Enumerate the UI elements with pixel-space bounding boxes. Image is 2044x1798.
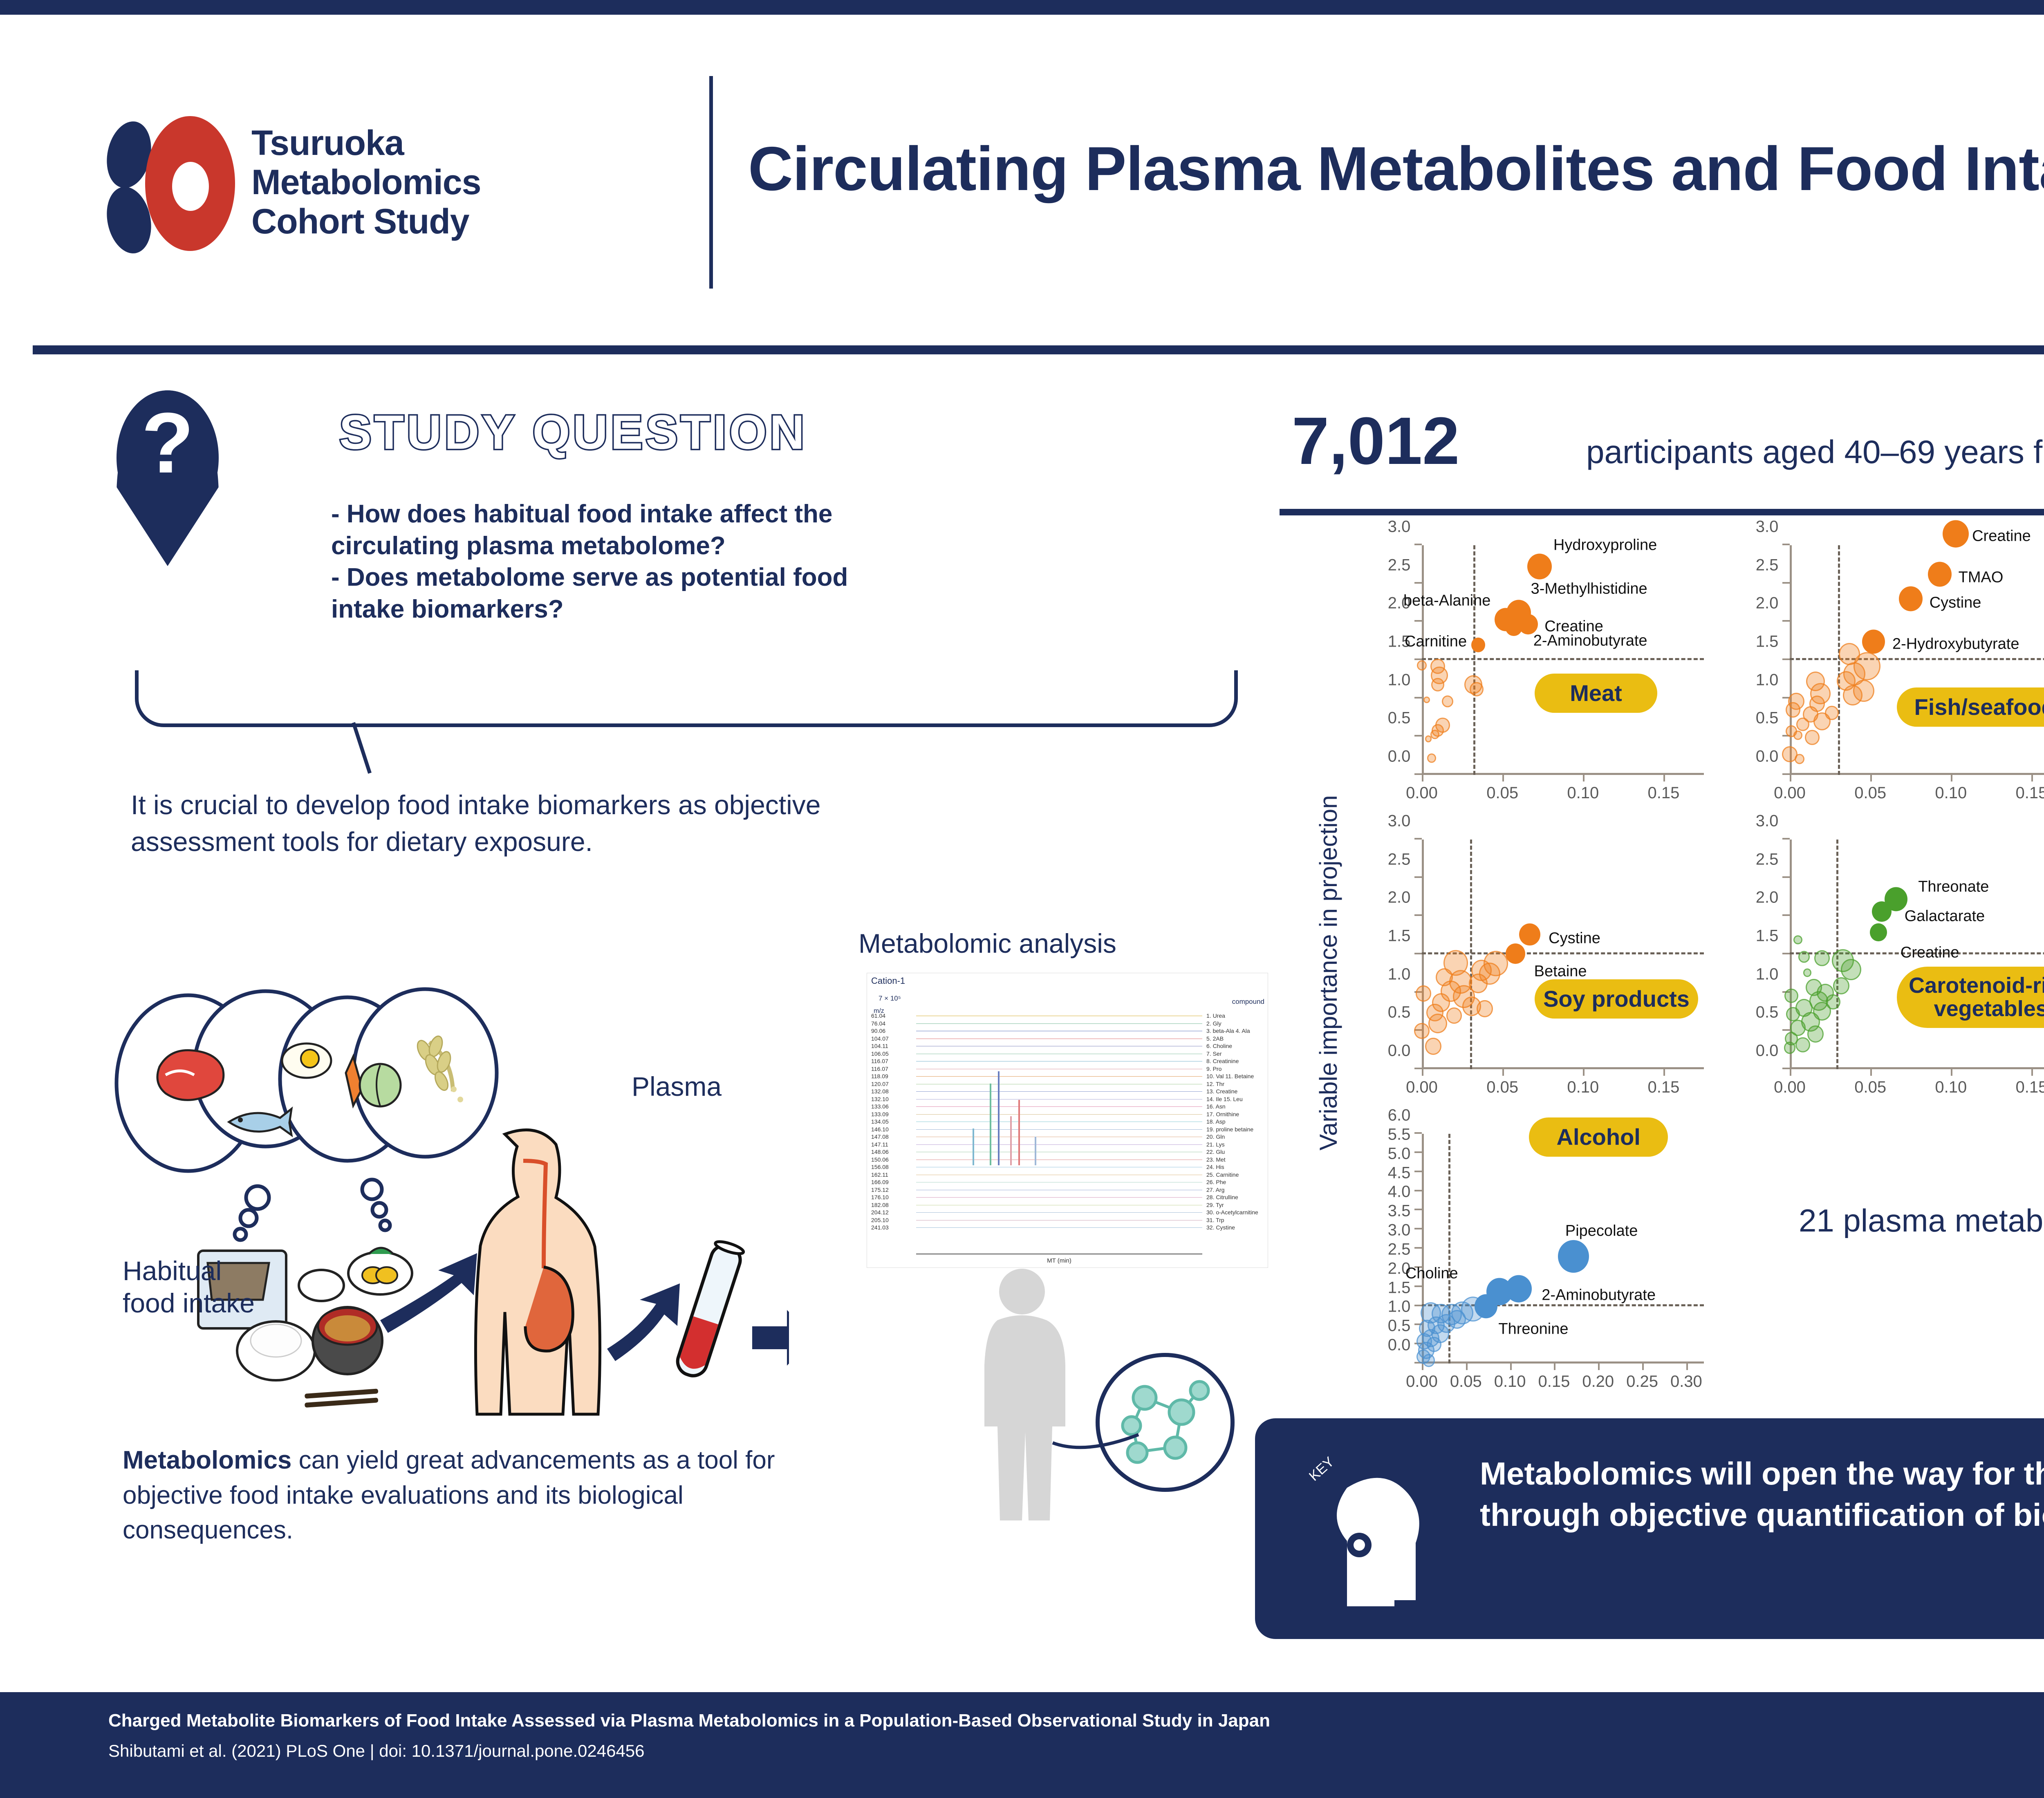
spectra-trace [916,1197,1202,1198]
data-point [1805,730,1820,745]
y-tick-label: 0.5 [1388,709,1411,728]
y-tick-label: 0.0 [1756,748,1779,766]
logo-text: Tsuruoka Metabolomics Cohort Study [251,123,481,242]
food-group-badge: Soy products [1535,979,1698,1019]
y-tick [1414,838,1422,840]
point-label: 2-Aminobutyrate [1533,632,1647,650]
spectra-compound-name: 21. Lys [1206,1141,1225,1148]
figure-ylabel: Variable importance in projection [1314,768,1342,1177]
y-tick [1782,838,1790,840]
spectra-mz-value: 133.06 [871,1103,889,1110]
spectra-compound-name: 26. Phe [1206,1179,1226,1185]
y-tick [1414,876,1422,878]
study-question-bullet-1: - How does habitual food intake affect t… [331,499,1124,530]
habitual-food-intake-label: Habitual food intake [123,1255,255,1319]
spectra-compound-name: 31. Trp [1206,1217,1224,1223]
point-label: Creatine [1901,944,1959,961]
summary-statement: 21 plasma metabolites were associated wi… [1799,1198,2044,1244]
food-group-badge: Meat [1535,674,1657,713]
participant-description: participants aged 40–69 years from Wave … [1586,433,2044,471]
y-tick-label: 0.5 [1388,1317,1411,1335]
data-point [1425,736,1432,743]
plot-area: 0.00.51.01.52.02.53.00.000.050.100.15Thr… [1790,840,2044,1069]
spectra-compound-name: 32. Cystine [1206,1224,1235,1231]
x-tick-label: 0.30 [1670,1373,1702,1391]
study-question-bullet-2: - Does metabolome serve as potential foo… [331,562,1124,593]
data-point [1803,969,1811,977]
spectra-trace [916,1016,1202,1016]
data-point [1786,702,1800,718]
spectra-mz-value: 133.09 [871,1111,889,1117]
right-divider [1280,509,2044,515]
y-tick-label: 2.5 [1756,850,1779,869]
y-tick [1414,1305,1422,1306]
metabolomics-bold-lead: Metabolomics [123,1446,291,1474]
plot-area: 0.00.51.01.52.02.53.03.54.04.55.05.56.00… [1422,1134,1704,1364]
x-tick-label: 0.00 [1774,784,1806,802]
food-group-badge: Carotenoid-richvegetables [1897,967,2044,1028]
spectra-scale-label: 7 × 10⁵ [879,994,901,1003]
y-tick [1414,914,1422,916]
y-tick-label: 1.5 [1388,927,1411,945]
x-tick [1790,1069,1791,1076]
y-tick [1414,1132,1422,1134]
data-point [1423,1354,1435,1367]
x-tick [1790,775,1791,781]
x-tick [1870,1069,1872,1076]
data-point [1784,1042,1795,1054]
data-point [1416,985,1431,1002]
y-tick-label: 2.0 [1388,889,1411,907]
y-tick-label: 6.0 [1388,1106,1411,1125]
participant-count: 7,012 [1292,403,1459,479]
point-label: 2-Aminobutyrate [1542,1287,1656,1304]
vip-threshold-line [1422,658,1704,660]
x-axis [1790,773,2044,775]
x-tick [1422,1364,1423,1370]
y-tick-label: 3.0 [1756,518,1779,536]
data-point [1786,1007,1800,1021]
logo-line-2: Metabolomics [251,163,481,202]
y-tick [1414,620,1422,622]
x-tick-label: 0.05 [1854,784,1886,802]
spectra-compound-name: 20. Gln [1206,1133,1225,1140]
data-point [1833,977,1849,994]
scatter-panel-soy-products: 0.00.51.01.52.02.53.00.000.050.100.15Cys… [1361,826,1725,1112]
x-tick [1422,775,1423,781]
header-divider [33,345,2044,354]
spectra-compound-name: 12. Thr [1206,1081,1224,1087]
spectra-trace [916,1069,1202,1069]
food-group-badge: Alcohol [1529,1117,1668,1157]
x-axis [1422,773,1704,775]
x-tick-label: 0.00 [1406,1373,1438,1391]
point-label: 3-Methylhistidine [1531,580,1647,598]
spectra-mz-value: 176.10 [871,1194,889,1200]
metabolomic-spectra-figure: Cation-1 7 × 10⁵ m/z compound 61.041. Ur… [867,973,1268,1268]
point-label: Hydroxyproline [1553,537,1657,554]
scatter-panel-alcohol: 0.00.51.01.52.02.53.03.54.04.55.05.56.00… [1361,1120,1725,1406]
y-tick-label: 2.5 [1756,556,1779,574]
footer-citation: Shibutami et al. (2021) PLoS One | doi: … [108,1741,645,1761]
spectra-compound-name: 16. Asn [1206,1103,1226,1110]
labeled-data-point [1870,923,1887,941]
scatter-panel-meat: 0.00.51.01.52.02.53.00.000.050.100.15Hyd… [1361,531,1725,817]
spectra-mz-value: 204.12 [871,1209,889,1216]
spectra-trace [916,1190,1202,1190]
x-tick [1663,1069,1665,1076]
spectra-trace [916,1031,1202,1031]
y-tick [1414,582,1422,584]
x-tick [1510,1364,1512,1370]
data-point [1442,696,1453,708]
data-point [1470,682,1484,696]
study-question-bullet-2-cont: intake biomarkers? [331,594,1124,625]
spectra-compound-name: 27. Arg [1206,1187,1224,1193]
y-tick-label: 3.5 [1388,1202,1411,1220]
spectra-compound-name: 14. Ile 15. Leu [1206,1096,1243,1102]
spectra-compound-name: 9. Pro [1206,1066,1221,1072]
spectra-compound-name: 13. Creatine [1206,1088,1237,1095]
data-point [1414,1023,1430,1039]
y-tick [1414,735,1422,737]
y-tick [1414,697,1422,699]
y-tick [1414,1228,1422,1229]
y-tick-label: 5.5 [1388,1125,1411,1144]
footer-article-title: Charged Metabolite Biomarkers of Food In… [108,1711,1270,1731]
spectra-trace [916,1129,1202,1130]
spectra-mz-value: 147.11 [871,1141,888,1148]
spectra-trace [916,1084,1202,1084]
labeled-data-point [1527,554,1552,580]
x-tick-label: 0.10 [1935,784,1967,802]
y-tick [1414,953,1422,954]
x-axis [1422,1361,1704,1364]
data-point [1446,1008,1462,1024]
x-tick-label: 0.00 [1774,1078,1806,1097]
y-tick-label: 1.0 [1388,965,1411,983]
y-tick-label: 0.0 [1756,1042,1779,1060]
spectra-trace [916,1023,1202,1024]
data-point [1796,718,1809,731]
spectra-mz-value: 182.08 [871,1202,889,1208]
point-label: Carnitine [1405,633,1467,650]
data-point [1425,1038,1441,1055]
point-label: Cystine [1549,930,1600,947]
spectra-mz-value: 104.11 [871,1043,888,1049]
spectra-mz-value: 162.11 [871,1171,888,1178]
x-tick-label: 0.00 [1406,784,1438,802]
x-tick [1422,1069,1423,1076]
plasma-label: Plasma [632,1071,722,1102]
spectra-compound-name: 23. Met [1206,1156,1226,1163]
scatter-panel-fish-seafood: 0.00.51.01.52.02.53.00.000.050.100.15Cre… [1729,531,2044,817]
point-label: Cystine [1930,594,1981,612]
x-tick-label: 0.15 [2015,1078,2044,1097]
coefficient-threshold-line [1838,545,1840,775]
logo-line-3: Cohort Study [251,202,481,241]
spectra-mz-value: 118.09 [871,1073,888,1079]
x-tick-label: 0.15 [1647,784,1679,802]
spectra-compound-name: 19. proline betaine [1206,1126,1253,1133]
point-label: beta-Alanine [1403,592,1490,609]
x-tick [1951,775,1952,781]
spectra-trace [916,1061,1202,1061]
data-point [1427,753,1436,763]
spectra-caption: Cation-1 [871,976,905,986]
y-tick-label: 4.5 [1388,1164,1411,1182]
study-question-heading: STUDY QUESTION [339,405,807,460]
spectra-mz-value: 116.07 [871,1066,888,1072]
header: Tsuruoka Metabolomics Cohort Study Circu… [0,15,2044,346]
y-tick [1414,1209,1422,1210]
data-point [1793,935,1802,945]
y-tick-label: 2.0 [1756,594,1779,613]
scatter-panel-carotenoid-rich-vegetables: 0.00.51.01.52.02.53.00.000.050.100.15Thr… [1729,826,2044,1112]
spectra-mz-value: 134.05 [871,1118,889,1125]
point-label: Threonate [1918,878,1989,896]
spectra-trace [916,1160,1202,1160]
labeled-data-point [1505,618,1522,636]
y-tick [1414,1068,1422,1069]
x-tick-label: 0.00 [1406,1078,1438,1097]
x-tick-label: 0.20 [1582,1373,1614,1391]
x-tick [1502,1069,1504,1076]
spectra-compound-name: 3. beta-Ala 4. Ala [1206,1028,1250,1034]
spectra-compound-name: 6. Choline [1206,1043,1232,1049]
y-tick [1782,773,1790,775]
y-tick [1414,544,1422,545]
study-rationale-text: It is crucial to develop food intake bio… [131,787,932,860]
plot-area: 0.00.51.01.52.02.53.00.000.050.100.15Hyd… [1422,545,1704,775]
key-badge-top: KEY [1306,1454,1337,1484]
y-tick-label: 2.5 [1388,850,1411,869]
spectra-mz-value: 148.06 [871,1149,889,1155]
spectra-trace [916,1046,1202,1046]
labeled-data-point [1943,520,1969,547]
x-tick-label: 0.10 [1494,1373,1526,1391]
spectra-trace [916,1099,1202,1099]
x-tick-label: 0.05 [1486,1078,1518,1097]
labeled-data-point [1471,638,1485,652]
labeled-data-point [1899,587,1923,611]
x-tick [1466,1364,1468,1370]
x-tick-label: 0.10 [1935,1078,1967,1097]
data-point [1784,988,1798,1003]
spectra-compound-name: 2. Gly [1206,1020,1221,1027]
decorative-bracket [135,670,1238,727]
metabolomics-conclusion-text: Metabolomics can yield great advancement… [123,1443,858,1548]
point-label: Creatine [1972,527,2031,545]
y-tick-label: 2.5 [1388,1240,1411,1258]
y-tick [1414,1247,1422,1249]
data-point [1793,730,1802,740]
y-tick-label: 1.0 [1756,671,1779,689]
spectra-trace [916,1054,1202,1054]
data-point [1417,661,1427,671]
y-tick-label: 0.0 [1388,1336,1411,1355]
spectra-compound-name: 30. o-Acetylcarnitine [1206,1209,1258,1216]
spectra-mz-value: 106.05 [871,1050,889,1057]
data-point [1431,678,1444,691]
x-tick [1951,1069,1952,1076]
spectra-trace [916,1220,1202,1220]
spectra-peak [990,1084,991,1165]
labeled-data-point [1519,923,1540,946]
spectra-mz-value: 132.08 [871,1088,889,1095]
x-tick-label: 0.15 [1538,1373,1570,1391]
spectra-mz-value: 147.08 [871,1133,889,1140]
point-label: Pipecolate [1565,1222,1638,1240]
plot-area: 0.00.51.01.52.02.53.00.000.050.100.15Cys… [1422,840,1704,1069]
y-tick [1782,582,1790,584]
x-tick-label: 0.05 [1486,784,1518,802]
y-tick-label: 0.0 [1388,748,1411,766]
x-axis [1790,1067,2044,1069]
spectra-trace [916,1144,1202,1145]
labeled-data-point [1475,1294,1497,1318]
point-label: 2-Hydroxybutyrate [1892,636,2019,653]
x-tick-label: 0.05 [1450,1373,1482,1391]
spectra-compound-name: 24. His [1206,1164,1224,1170]
spectra-compound-name: 1. Urea [1206,1012,1225,1019]
labeled-data-point [1928,562,1952,587]
y-tick [1414,1190,1422,1191]
spectra-compound-name: 8. Creatinine [1206,1058,1239,1064]
top-accent-bar [0,0,2044,15]
spectra-peak [1010,1116,1012,1165]
spectra-mz-value: 146.10 [871,1126,889,1133]
point-label: Choline [1405,1265,1458,1282]
y-tick [1782,876,1790,878]
y-tick [1782,544,1790,545]
spectra-peak [973,1129,974,1165]
spectra-trace [916,1039,1202,1039]
spectra-mz-value: 205.10 [871,1217,889,1223]
food-group-badge: Fish/seafood [1897,687,2044,727]
spectra-compound-name: 5. 2AB [1206,1035,1224,1042]
spectra-compound-name: 25. Carnitine [1206,1171,1239,1178]
spectra-compound-name: 29. Tyr [1206,1202,1224,1208]
coefficient-threshold-line [1473,545,1475,775]
y-tick-label: 2.5 [1388,556,1411,574]
decorative-bracket-stem [352,722,372,774]
labeled-data-point [1506,943,1525,964]
y-tick-label: 0.5 [1388,1003,1411,1022]
spectra-trace [916,1106,1202,1107]
metabolomic-analysis-title: Metabolomic analysis [858,928,1116,959]
y-tick [1782,914,1790,916]
y-tick-label: 1.0 [1756,965,1779,983]
data-point [1807,1026,1824,1043]
spectra-mz-value: 241.03 [871,1224,889,1231]
y-tick-label: 0.0 [1388,1042,1411,1060]
y-tick [1414,1151,1422,1153]
page-title: Circulating Plasma Metabolites and Food … [748,133,2044,205]
spectra-trace [916,1175,1202,1175]
labeled-data-point [1872,901,1892,922]
y-tick-label: 3.0 [1388,518,1411,536]
key-message-text: Metabolomics will open the way for the a… [1480,1453,2044,1536]
plot-area: 0.00.51.01.52.02.53.00.000.050.100.15Cre… [1790,545,2044,775]
spectra-mz-value: 166.09 [871,1179,889,1185]
point-label: Betaine [1534,963,1587,981]
tmcs-logo-icon [100,109,235,256]
x-axis [1422,1067,1704,1069]
y-tick [1414,773,1422,775]
x-tick [2031,1069,2033,1076]
x-tick-label: 0.10 [1567,784,1599,802]
study-question-bullet-1-cont: circulating plasma metabolome? [331,531,1124,562]
y-axis [1790,545,1792,775]
data-point [1423,696,1430,703]
point-label: TMAO [1959,569,2004,587]
point-label: Galactarate [1905,908,1985,925]
y-tick-label: 4.0 [1388,1183,1411,1201]
y-tick [1414,658,1422,660]
spectra-peak [998,1071,1000,1165]
spectra-mz-value: 116.07 [871,1058,888,1064]
spectra-mz-value: 132.10 [871,1096,889,1102]
x-tick [1663,775,1665,781]
y-tick-label: 1.5 [1756,633,1779,651]
y-tick [1782,953,1790,954]
y-tick [1782,1068,1790,1069]
x-tick [1598,1364,1600,1370]
x-tick [1870,775,1872,781]
spectra-mz-value: 90.06 [871,1028,885,1034]
x-tick-label: 0.15 [2015,784,2044,802]
spectra-trace [916,1152,1202,1152]
spectra-compound-name: 22. Glu [1206,1149,1225,1155]
spectra-compound-name: 7. Ser [1206,1050,1221,1057]
y-tick [1414,1285,1422,1287]
spectra-peak [1018,1100,1020,1165]
data-point [1428,1014,1447,1033]
spectra-mz-value: 150.06 [871,1156,889,1163]
x-tick [1502,775,1504,781]
food-intake-illustration [94,981,789,1451]
x-tick [1642,1364,1644,1370]
y-tick-label: 3.0 [1388,1221,1411,1240]
spectra-mz-value: 156.08 [871,1164,889,1170]
spectra-compound-name: 17. Ornithine [1206,1111,1239,1117]
x-tick-label: 0.25 [1626,1373,1658,1391]
y-tick-label: 0.5 [1756,709,1779,728]
spectra-mz-value: 104.07 [871,1035,889,1042]
y-tick-label: 0.5 [1756,1003,1779,1022]
spectra-trace [916,1182,1202,1182]
data-point [1477,1000,1493,1017]
data-point [1795,1037,1810,1052]
data-point [1813,712,1831,730]
data-point [1841,959,1861,980]
y-tick-label: 3.0 [1388,812,1411,831]
spectra-compound-header: compound [1232,998,1264,1006]
logo-line-1: Tsuruoka [251,123,481,163]
labeled-data-point [1862,630,1885,654]
vip-threshold-line [1790,658,2044,660]
y-tick-label: 1.5 [1756,927,1779,945]
y-tick-label: 3.0 [1756,812,1779,831]
data-point [1843,685,1862,705]
y-tick-label: 2.0 [1756,889,1779,907]
y-tick-label: 1.0 [1388,671,1411,689]
spectra-peak [1035,1137,1036,1165]
x-tick [1583,1069,1585,1076]
y-tick [1782,620,1790,622]
spectra-trace [916,1114,1202,1115]
